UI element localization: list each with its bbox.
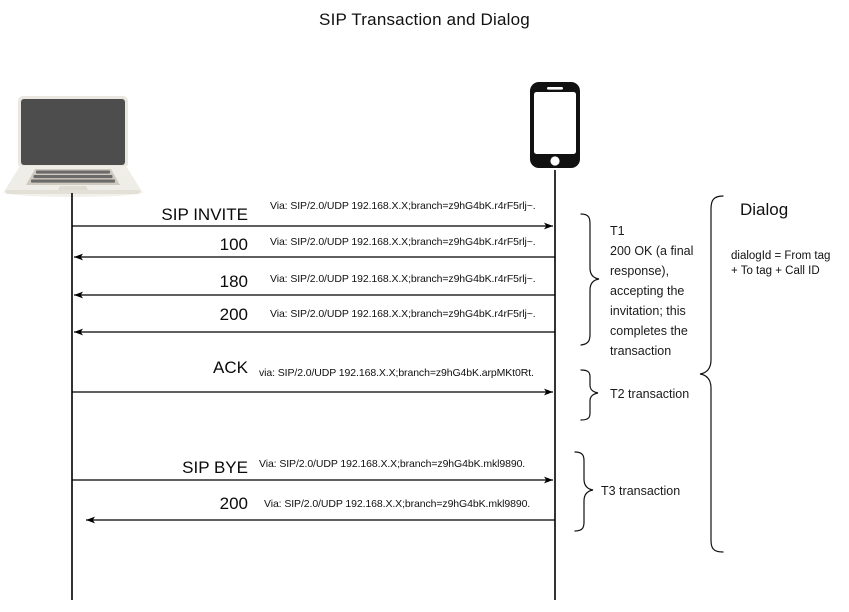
message-label-sip-invite: SIP INVITE bbox=[48, 205, 248, 225]
via-header-180: Via: SIP/2.0/UDP 192.168.X.X;branch=z9hG… bbox=[270, 273, 536, 285]
brace-t2 bbox=[581, 370, 598, 420]
mobile-phone-icon bbox=[530, 82, 580, 168]
via-header-200-invite: Via: SIP/2.0/UDP 192.168.X.X;branch=z9hG… bbox=[270, 308, 536, 320]
transaction-note-t2: T2 transaction bbox=[610, 384, 730, 404]
transaction-note-t1: T1 200 OK (a final response), accepting … bbox=[610, 221, 720, 361]
message-label-sip-bye: SIP BYE bbox=[48, 458, 248, 478]
transaction-note-t3: T3 transaction bbox=[601, 481, 721, 501]
via-header-100: Via: SIP/2.0/UDP 192.168.X.X;branch=z9hG… bbox=[270, 236, 536, 248]
via-header-sip-invite: Via: SIP/2.0/UDP 192.168.X.X;branch=z9hG… bbox=[270, 200, 536, 212]
message-label-200-invite: 200 bbox=[48, 305, 248, 325]
message-label-180: 180 bbox=[48, 272, 248, 292]
dialog-id-note: dialogId = From tag + To tag + Call ID bbox=[731, 249, 846, 279]
via-header-ack: via: SIP/2.0/UDP 192.168.X.X;branch=z9hG… bbox=[259, 367, 534, 379]
message-label-200-bye: 200 bbox=[48, 494, 248, 514]
page-title: SIP Transaction and Dialog bbox=[0, 10, 849, 30]
brace-t1 bbox=[581, 214, 599, 345]
via-header-200-bye: Via: SIP/2.0/UDP 192.168.X.X;branch=z9hG… bbox=[264, 498, 530, 510]
message-label-100: 100 bbox=[48, 235, 248, 255]
laptop-icon bbox=[3, 96, 143, 197]
message-label-ack: ACK bbox=[48, 358, 248, 378]
dialog-heading: Dialog bbox=[740, 200, 788, 220]
brace-t3 bbox=[575, 452, 593, 531]
via-header-sip-bye: Via: SIP/2.0/UDP 192.168.X.X;branch=z9hG… bbox=[259, 458, 525, 470]
